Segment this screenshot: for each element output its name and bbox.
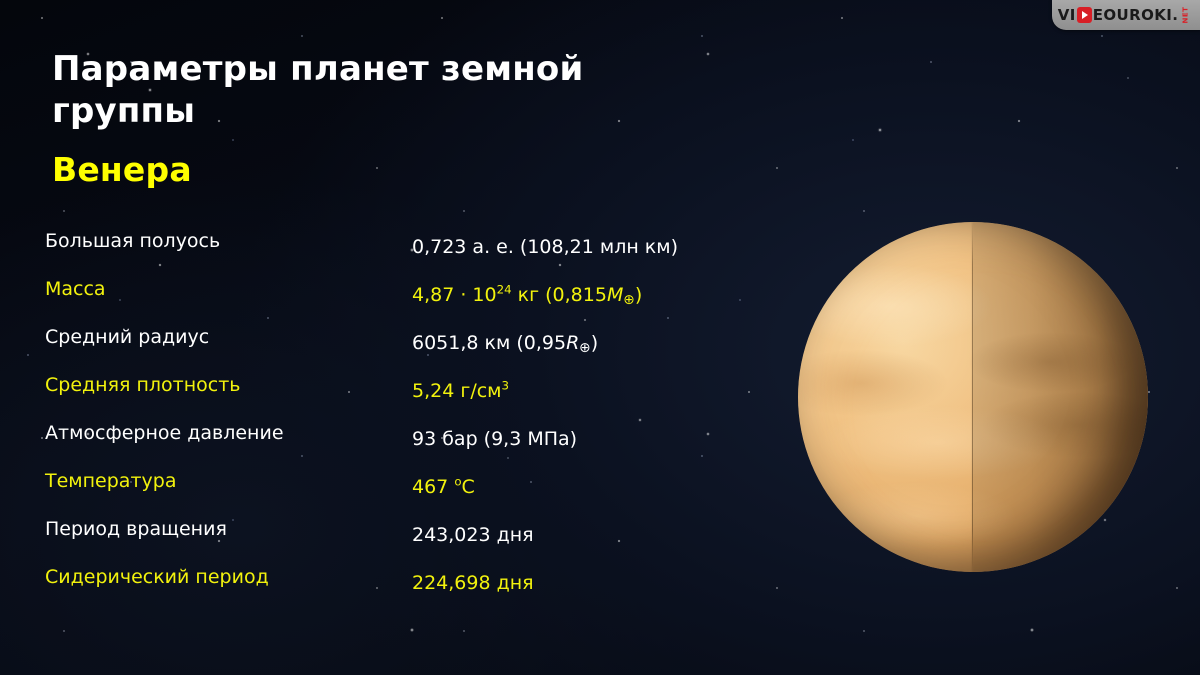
value-mass-exponent: 24	[497, 283, 512, 297]
parameter-value-column: 0,723 а. е. (108,21 млн км) 4,87 · 1024 …	[412, 224, 712, 607]
value-temperature: 467 oC	[412, 463, 712, 511]
value-radius-symbol: R	[566, 332, 579, 354]
label-temperature: Температура	[45, 464, 395, 512]
value-mean-density: 5,24 г/см3	[412, 367, 712, 415]
value-density-number: 5,24 г/см	[412, 380, 502, 402]
value-temperature-number: 467	[412, 476, 454, 498]
label-mean-radius: Средний радиус	[45, 320, 395, 368]
value-mass: 4,87 · 1024 кг (0,815M⊕)	[412, 271, 712, 319]
value-sidereal-period: 224,698 дня	[412, 559, 712, 607]
planet-name-subtitle: Венера	[52, 150, 192, 189]
earth-symbol-icon: ⊕	[623, 292, 634, 308]
value-temperature-unit: C	[462, 476, 475, 498]
slide-canvas: VI EOUROKI. NET Параметры планет земной …	[0, 0, 1200, 675]
value-semimajor-axis: 0,723 а. е. (108,21 млн км)	[412, 224, 712, 271]
value-mass-unit: кг (0,815	[512, 284, 607, 306]
value-radius-close: )	[591, 332, 598, 354]
parameter-label-column: Большая полуось Масса Средний радиус Сре…	[45, 224, 395, 608]
logo-tld: NET	[1182, 7, 1190, 24]
page-title: Параметры планет земной группы	[52, 48, 732, 132]
value-mass-symbol: M	[607, 284, 623, 306]
logo-text-before: VI	[1058, 6, 1076, 24]
label-sidereal-period: Сидерический период	[45, 560, 395, 608]
venus-limb-shadow	[798, 222, 1148, 572]
logo-wordmark: VI EOUROKI. NET	[1058, 6, 1195, 24]
value-mass-mantissa: 4,87 · 10	[412, 284, 497, 306]
label-mean-density: Средняя плотность	[45, 368, 395, 416]
degree-symbol-icon: o	[454, 475, 461, 489]
value-radius-number: 6051,8 км (0,95	[412, 332, 566, 354]
value-mean-radius: 6051,8 км (0,95R⊕)	[412, 319, 712, 367]
label-semimajor-axis: Большая полуось	[45, 224, 395, 272]
earth-symbol-icon: ⊕	[579, 340, 590, 356]
value-mass-close: )	[635, 284, 642, 306]
label-rotation-period: Период вращения	[45, 512, 395, 560]
play-triangle-icon	[1077, 7, 1092, 23]
venus-disc	[798, 222, 1148, 572]
videouroki-logo[interactable]: VI EOUROKI. NET	[1052, 0, 1200, 30]
logo-text-after: EOUROKI.	[1093, 6, 1179, 24]
value-atmospheric-pressure: 93 бар (9,3 МПа)	[412, 415, 712, 463]
label-mass: Масса	[45, 272, 395, 320]
value-rotation-period: 243,023 дня	[412, 511, 712, 559]
value-density-exponent: 3	[502, 379, 510, 393]
venus-planet	[798, 222, 1148, 572]
label-atmospheric-pressure: Атмосферное давление	[45, 416, 395, 464]
